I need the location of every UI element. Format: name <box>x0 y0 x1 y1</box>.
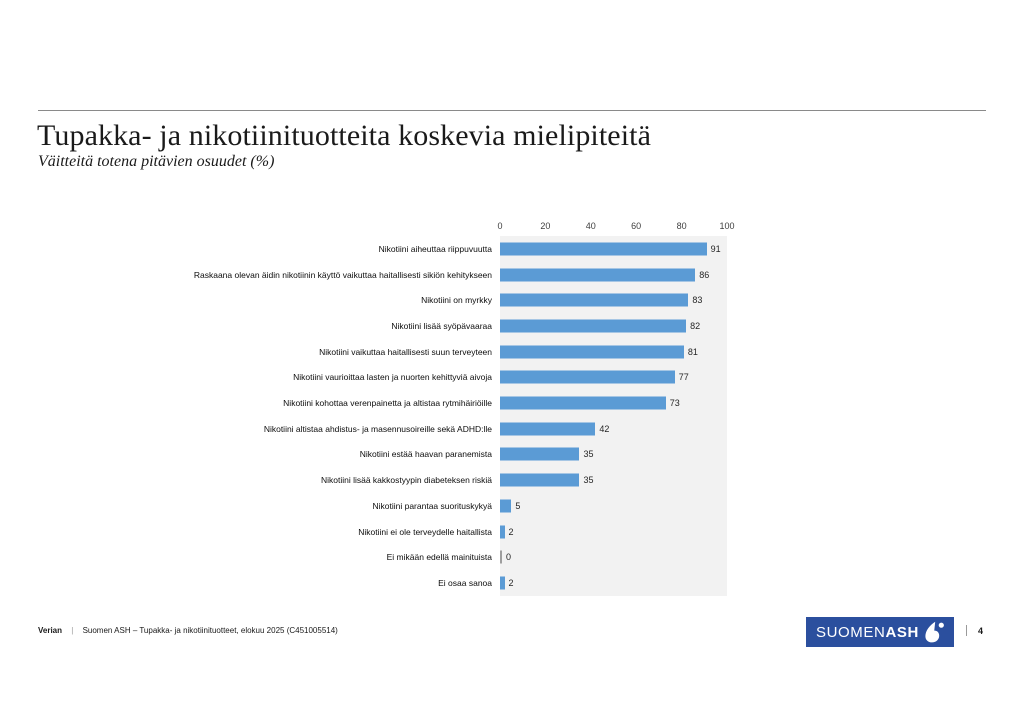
category-label: Nikotiini on myrkky <box>162 295 492 306</box>
bar-row: Nikotiini vaurioittaa lasten ja nuorten … <box>0 365 1024 391</box>
bar-value-label: 35 <box>579 449 593 459</box>
bar-value-label: 82 <box>686 321 700 331</box>
bar-row: Nikotiini parantaa suorituskykyä5 <box>0 493 1024 519</box>
bar <box>500 294 688 307</box>
category-label: Nikotiini ei ole terveydelle haitallista <box>162 526 492 537</box>
bar <box>500 319 686 332</box>
bar-value-label: 77 <box>675 372 689 382</box>
bar-row: Nikotiini altistaa ahdistus- ja masennus… <box>0 416 1024 442</box>
droplet-icon <box>922 620 946 644</box>
bar-track <box>500 448 579 461</box>
category-label: Nikotiini vaurioittaa lasten ja nuorten … <box>162 372 492 383</box>
bar <box>500 397 666 410</box>
bar-track <box>500 268 695 281</box>
category-label: Raskaana olevan äidin nikotiinin käyttö … <box>162 269 492 280</box>
bar-row: Nikotiini estää haavan paranemista35 <box>0 442 1024 468</box>
bar-row: Nikotiini on myrkky83 <box>0 287 1024 313</box>
bar-row: Nikotiini lisää kakkostyypin diabeteksen… <box>0 467 1024 493</box>
bar-value-label: 35 <box>579 475 593 485</box>
bar-value-label: 91 <box>707 244 721 254</box>
x-tick-80: 80 <box>677 221 687 231</box>
bar-value-label: 73 <box>666 398 680 408</box>
x-tick-100: 100 <box>719 221 734 231</box>
bar-track <box>500 371 675 384</box>
bar-value-label: 81 <box>684 347 698 357</box>
category-label: Nikotiini lisää syöpävaaraa <box>162 321 492 332</box>
category-label: Ei osaa sanoa <box>162 578 492 589</box>
category-label: Ei mikään edellä mainituista <box>162 552 492 563</box>
bar-row: Nikotiini ei ole terveydelle haitallista… <box>0 519 1024 545</box>
logo-wordmark: SUOMENASH <box>816 624 919 641</box>
bar-row: Ei mikään edellä mainituista0 <box>0 544 1024 570</box>
category-label: Nikotiini vaikuttaa haitallisesti suun t… <box>162 346 492 357</box>
bar-value-label: 2 <box>505 527 514 537</box>
bar <box>500 422 595 435</box>
x-tick-0: 0 <box>497 221 502 231</box>
bar-row: Nikotiini kohottaa verenpainetta ja alti… <box>0 390 1024 416</box>
bar-row: Ei osaa sanoa2 <box>0 570 1024 596</box>
footer-separator: | <box>64 626 80 635</box>
bar-value-label: 2 <box>505 578 514 588</box>
footer-source: Suomen ASH – Tupakka- ja nikotiinituotte… <box>83 626 338 635</box>
bar-track <box>500 319 686 332</box>
x-axis-tick-labels: 020406080100 <box>500 221 727 235</box>
logo-text-light: SUOMEN <box>816 624 885 641</box>
bar-track <box>500 474 579 487</box>
category-label: Nikotiini parantaa suorituskykyä <box>162 501 492 512</box>
bar <box>500 242 707 255</box>
bar-row: Nikotiini lisää syöpävaaraa82 <box>0 313 1024 339</box>
bar-row: Nikotiini aiheuttaa riippuvuutta91 <box>0 236 1024 262</box>
bar <box>500 371 675 384</box>
bar <box>500 345 684 358</box>
bar-track <box>500 397 666 410</box>
bar-track <box>500 294 688 307</box>
bar-track <box>500 499 511 512</box>
category-label: Nikotiini lisää kakkostyypin diabeteksen… <box>162 475 492 486</box>
logo-text-bold: ASH <box>885 624 918 641</box>
page-number-separator <box>966 625 967 636</box>
category-label: Nikotiini estää haavan paranemista <box>162 449 492 460</box>
footer-brand: Verian <box>38 626 62 635</box>
bar <box>500 499 511 512</box>
bar-track <box>500 242 707 255</box>
bar-value-label: 0 <box>502 552 511 562</box>
bar-value-label: 5 <box>511 501 520 511</box>
x-tick-60: 60 <box>631 221 641 231</box>
bar-row: Raskaana olevan äidin nikotiinin käyttö … <box>0 262 1024 288</box>
category-label: Nikotiini aiheuttaa riippuvuutta <box>162 244 492 255</box>
bar-row: Nikotiini vaikuttaa haitallisesti suun t… <box>0 339 1024 365</box>
bar-track <box>500 422 595 435</box>
bar-track <box>500 345 684 358</box>
bar <box>500 268 695 281</box>
bar <box>500 448 579 461</box>
footer: Verian | Suomen ASH – Tupakka- ja nikoti… <box>38 626 338 635</box>
x-tick-40: 40 <box>586 221 596 231</box>
page-number: 4 <box>978 626 983 636</box>
bar-value-label: 42 <box>595 424 609 434</box>
x-tick-20: 20 <box>540 221 550 231</box>
suomen-ash-logo: SUOMENASH <box>806 617 954 647</box>
bar-value-label: 83 <box>688 295 702 305</box>
bar-value-label: 86 <box>695 270 709 280</box>
bar <box>500 474 579 487</box>
category-label: Nikotiini altistaa ahdistus- ja masennus… <box>162 423 492 434</box>
category-label: Nikotiini kohottaa verenpainetta ja alti… <box>162 398 492 409</box>
